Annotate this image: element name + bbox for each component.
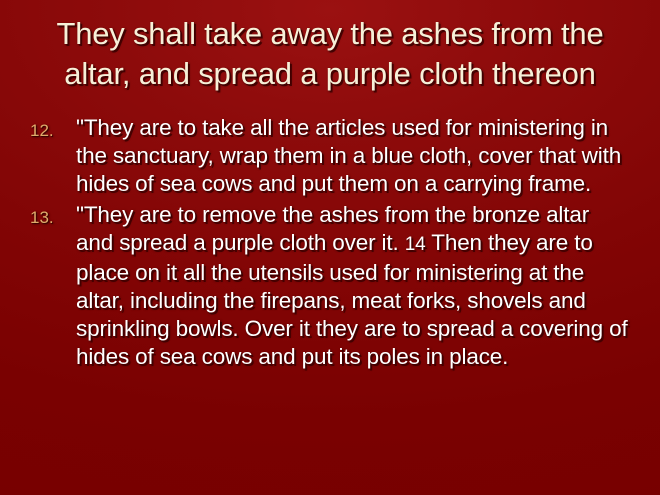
- slide-title-line-1: They shall take away the ashes from the: [14, 14, 646, 54]
- list-item: 12. "They are to take all the articles u…: [30, 114, 630, 198]
- slide-title-line-2: altar, and spread a purple cloth thereon: [14, 54, 646, 94]
- slide-body-list: 12. "They are to take all the articles u…: [30, 114, 630, 374]
- list-item: 13. "They are to remove the ashes from t…: [30, 201, 630, 371]
- list-item-text: "They are to take all the articles used …: [76, 114, 630, 198]
- inline-verse-number: 14: [405, 234, 426, 255]
- slide-title: They shall take away the ashes from the …: [14, 14, 646, 94]
- list-item-text: "They are to remove the ashes from the b…: [76, 201, 630, 371]
- list-item-number: 13.: [30, 201, 76, 232]
- list-item-number: 12.: [30, 114, 76, 145]
- presentation-slide: They shall take away the ashes from the …: [0, 0, 660, 495]
